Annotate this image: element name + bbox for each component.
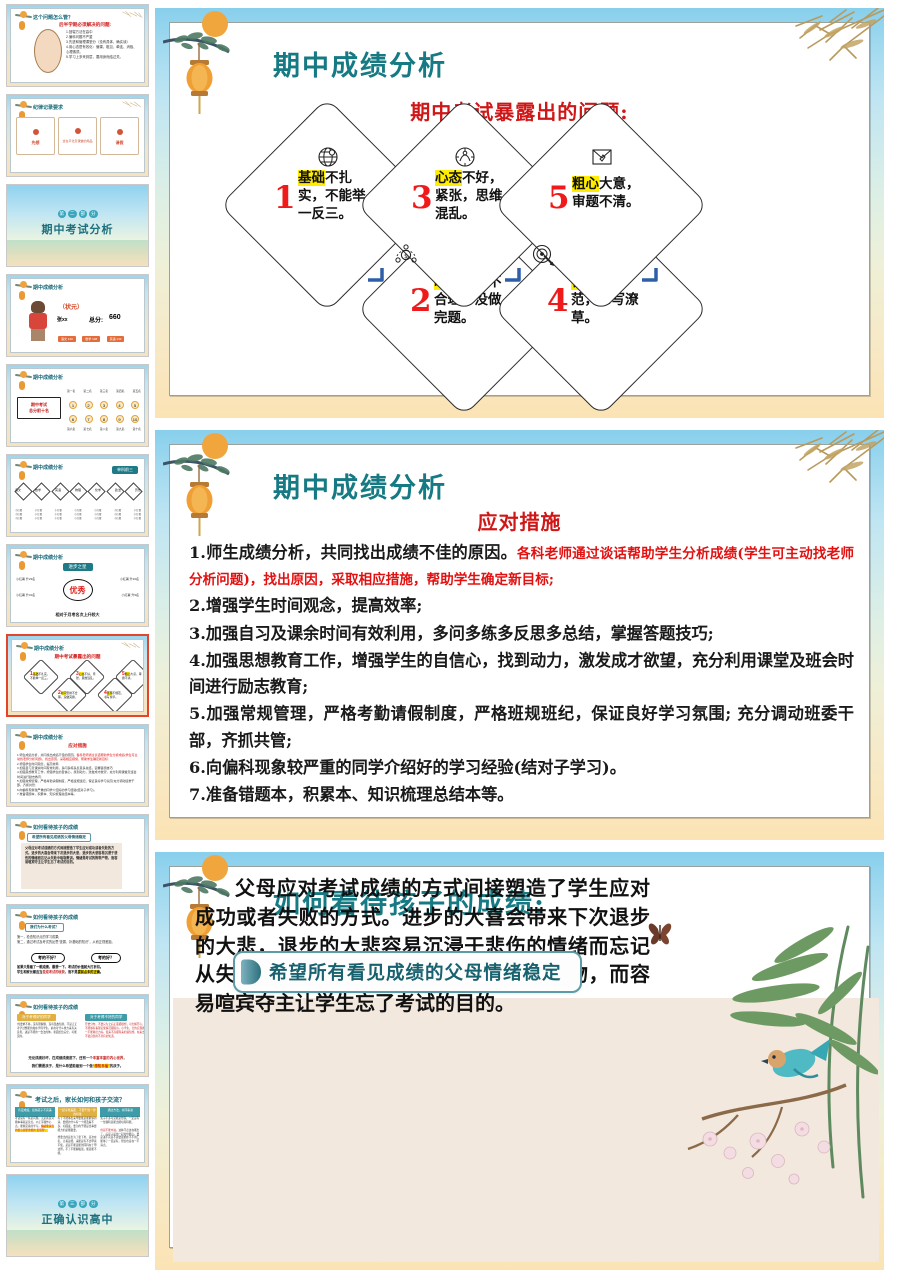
quote-banner: 希望所有看见成绩的父母情绪稳定	[233, 951, 582, 993]
thumb-col-head: 对于考得好的同学	[17, 1014, 56, 1021]
thumb-rank-caption: 期中考试总分前十名	[17, 397, 61, 419]
measure-item: 2.增强学生时间观念，提高效率;	[189, 593, 854, 619]
thumb-rank-label: 第一名	[67, 389, 75, 393]
slide-thumbnail-2[interactable]: 纪律记录要求 先想 这在平化及课堂的用品 请假	[6, 94, 149, 177]
measure-item: 5.加强常规管理，严格考勤请假制度，严格班规班纪，保证良好学习氛围; 充分调动班…	[189, 701, 854, 753]
envelope-icon	[590, 145, 614, 169]
thumb-red-heading: 后半学期必须解决的问题:	[59, 22, 111, 28]
svg-text:$: $	[404, 253, 408, 260]
slide-thumbnail-3[interactable]: 第二部分 期中考试分析	[6, 184, 149, 267]
thumb-card: 这在平化及课堂的用品	[58, 117, 97, 155]
quote-body: 父母应对考试成绩的方式间接塑造了学生应对成功或者失败的方式。进步的大喜会带来下次…	[195, 874, 650, 1018]
rank-badge: 5	[131, 401, 139, 409]
thumb-col-head: 通过方法，共同事进	[100, 1107, 140, 1117]
thumb-subject: 化学	[95, 488, 101, 492]
slide-title: 期中成绩分析	[273, 44, 447, 83]
thumb-banner: 我们为什么考试？	[25, 923, 64, 932]
slide-thumbnail-6[interactable]: 期中成绩分析 单科前三 语文 数学 英语 物理 化学 政	[6, 454, 149, 537]
slide-measures[interactable]: 期中成绩分析 应对措施 1.师生成绩分析，共同找出成绩不佳的原因。各科老师通过谈…	[155, 430, 884, 840]
thumb-title: 期中成绩分析	[33, 554, 63, 561]
quote-panel	[173, 998, 879, 1262]
thumb-title: 期中成绩分析	[33, 734, 63, 741]
slide-thumbnail-1[interactable]: 这个问题怎么管？ 后半学期必须解决的问题: 1.回寝方法在高中 2.偏科问题不严…	[6, 4, 149, 87]
slide-thumbnail-10[interactable]: 如何看待孩子的成绩 希望所有看见成绩的父母情绪稳定 父母应对考试成绩的方式间接塑…	[6, 814, 149, 897]
thumb-tag: 进步之星	[63, 563, 93, 571]
lantern-icon	[15, 551, 33, 577]
mindset-icon	[453, 145, 477, 169]
thumb-banner: 希望所有看见成绩的父母情绪稳定	[27, 833, 91, 842]
thumb-rank-label: 第九名	[116, 427, 124, 431]
thumb-title: 期中成绩分析	[33, 284, 63, 291]
rank-badge: 3	[100, 401, 108, 409]
thumb-rank-label: 第七名	[83, 427, 91, 431]
thumb-cover-title: 正确认识高中	[7, 1211, 148, 1227]
thumb-rank-label: 第三名	[100, 389, 108, 393]
target-icon	[531, 243, 555, 267]
slide-how-to-view[interactable]: 如何看待孩子的成绩: 希望所有看见成绩的父母情绪稳定 父母应对考试成绩的方式间接…	[155, 852, 884, 1270]
rank-badge: 2	[85, 401, 93, 409]
lantern-icon	[15, 11, 33, 37]
thumb-subject: 历史	[135, 488, 141, 492]
thumb-rank-label: 第四名	[116, 389, 124, 393]
thumb-rank-label: 第五名	[133, 389, 141, 393]
thumb-button[interactable]: 考的好？	[91, 953, 121, 963]
measure-item: 3.加强自习及课余时间有效利用，多问多练多反思多总结，掌握答题技巧;	[189, 621, 854, 647]
lantern-icon	[15, 371, 33, 397]
thumb-score-chip: 英语 142	[107, 336, 125, 342]
thumb-subject: 政治	[115, 488, 121, 492]
thumb-cover-title: 期中考试分析	[7, 221, 148, 237]
slide-thumbnail-12[interactable]: 如何看待孩子的成绩 对于考得好的同学 对于考得不好的同学 '的要求不够，没有理解…	[6, 994, 149, 1077]
thumb-title: 这个问题怎么管？	[33, 14, 73, 21]
thumb-card: 先想	[16, 117, 55, 155]
thumb-center-label: 优秀	[63, 579, 93, 601]
thumb-student-name: 张xx	[57, 316, 68, 323]
time-money-icon: $	[394, 243, 418, 267]
rank-badge: 4	[116, 401, 124, 409]
measure-item: 6.向偏科现象较严重的同学介绍好的学习经验(结对子学习)。	[189, 755, 854, 781]
thumb-title: 如何看待孩子的成绩	[33, 914, 78, 921]
thumb-subject: 语文	[15, 488, 21, 492]
rank-badge: 10	[131, 415, 139, 423]
thumb-card: 请假	[100, 117, 139, 155]
thumb-subject: 数学	[35, 488, 41, 492]
thumb-rank-label: 第二名	[83, 389, 91, 393]
measure-item: 4.加强思想教育工作，增强学生的自信心，找到动力，激发成才欲望，充分利用课堂及班…	[189, 648, 854, 700]
slide-thumbnail-4[interactable]: 期中成绩分析 （状元） 张xx 总分: 660 语文 120 数学 138 英语…	[6, 274, 149, 357]
measure-item: 7.准备错题本，积累本、知识梳理总结本等。	[189, 782, 854, 808]
slide-thumbnail-13[interactable]: 考试之后，家长如何和孩子交流？ 肯定成绩，接纳孩子不完美 一起寻找差距、不要千篇…	[6, 1084, 149, 1167]
thumb-col-head: 肯定成绩，接纳孩子不完美	[15, 1107, 55, 1117]
thumb-title: 期中成绩分析	[33, 374, 63, 381]
slide-problems[interactable]: 期中成绩分析 期中考试暴露出的问题: 1 基础不扎实，不	[155, 8, 884, 418]
thumb-col-head: 一起寻找差距、不要千篇一律的标准	[58, 1107, 98, 1117]
thumb-red-heading: 应对措施	[11, 743, 144, 749]
thumb-tag: 单科前三	[112, 466, 138, 474]
thumb-rank-label: 第八名	[100, 427, 108, 431]
slide-thumbnail-11[interactable]: 如何看待孩子的成绩 我们为什么考试？ 第一，检查知识点的学习成果; 第二，通过考…	[6, 904, 149, 987]
thumb-rank-label: 第十名	[133, 427, 141, 431]
thumb-cover-sub: 第二部分	[7, 210, 148, 218]
thumb-cover-sub: 第三部分	[7, 1200, 148, 1208]
thumb-red-heading: 期中考试暴露出的问题	[12, 654, 143, 660]
slide-thumbnail-panel[interactable]: 这个问题怎么管？ 后半学期必须解决的问题: 1.回寝方法在高中 2.偏科问题不严…	[0, 0, 155, 1286]
thumb-button[interactable]: 考的不好？	[31, 953, 65, 963]
thumb-student-avatar	[27, 301, 49, 347]
thumb-line: 5.学习上多来到层，要用身而结过关。	[66, 55, 139, 60]
thumb-subject: 物理	[75, 488, 81, 492]
thumb-title: 考试之后，家长如何和孩子交流？	[35, 1095, 125, 1104]
presentation-viewer: 这个问题怎么管？ 后半学期必须解决的问题: 1.回寝方法在高中 2.偏科问题不严…	[0, 0, 900, 1286]
thumb-title: 如何看待孩子的成绩	[33, 1004, 78, 1011]
rank-badge: 1	[69, 401, 77, 409]
thumb-col-head: 对于考得不好的同学	[85, 1014, 127, 1021]
thumb-footer: 相对于月考名次上升较大	[11, 612, 144, 618]
bamboo-icon	[121, 10, 143, 24]
slide-thumbnail-14[interactable]: 第三部分 正确认识高中	[6, 1174, 149, 1257]
thumb-line: 4.用心态是有效化：偏课、粗见、牵连、消极、心理素质。	[66, 45, 139, 55]
rank-badge: 7	[85, 415, 93, 423]
slide-thumbnail-7[interactable]: 期中成绩分析 进步之星 优秀 小红署 升23名 小红署 升20名 小红署 升31…	[6, 544, 149, 627]
diamond-diagram: 1 基础不扎实，不能举一反三。 $ 2 时间安排不合理，没做完题。	[250, 123, 795, 393]
rank-badge: 8	[100, 415, 108, 423]
thumb-badge: （状元）	[59, 302, 83, 311]
thumb-title: 期中成绩分析	[34, 645, 64, 652]
thumb-subject: 英语	[55, 488, 61, 492]
thumb-score-chip: 数学 138	[82, 336, 100, 342]
thumb-title: 纪律记录要求	[33, 104, 63, 111]
slide-thumbnail-8[interactable]: 期中成绩分析 期中考试暴露出的问题 1基础不扎实，不能举一反三。 2时间安排不合…	[6, 634, 149, 717]
bamboo-icon	[121, 100, 143, 114]
measure-item: 1.师生成绩分析，共同找出成绩不佳的原因。各科老师通过谈话帮助学生分析成绩(学生…	[189, 540, 854, 592]
thumb-total-label: 总分:	[89, 315, 103, 324]
slide-thumbnail-5[interactable]: 期中成绩分析 期中考试总分前十名 第一名 第二名 第三名 第四名 第五名 1 2…	[6, 364, 149, 447]
slide-thumbnail-9[interactable]: 期中成绩分析 应对措施 1.师生成绩分析，共同找出成绩不佳的原因。各科老师通过谈…	[6, 724, 149, 807]
thumb-rank-label: 第六名	[67, 427, 75, 431]
thumb-total-value: 660	[109, 314, 121, 321]
rank-badge: 6	[69, 415, 77, 423]
globe-icon	[316, 145, 340, 169]
thumb-score-chip: 语文 120	[58, 336, 76, 342]
thumb-illustration	[34, 29, 62, 73]
measures-list: 1.师生成绩分析，共同找出成绩不佳的原因。各科老师通过谈话帮助学生分析成绩(学生…	[189, 540, 854, 809]
slide-title: 期中成绩分析	[273, 466, 447, 505]
rank-badge: 9	[116, 415, 124, 423]
thumb-title: 如何看待孩子的成绩	[33, 824, 78, 831]
bamboo-icon	[120, 641, 142, 655]
thumb-title: 期中成绩分析	[33, 464, 63, 471]
slide-viewer: 期中成绩分析 期中考试暴露出的问题: 1 基础不扎实，不	[155, 0, 900, 1286]
thumb-body: 父母应对考试成绩的方式间接塑造了学生应对成功或者失败的方式。进步的大喜会带来下次…	[21, 843, 122, 889]
slide-subtitle: 应对措施	[478, 506, 562, 535]
